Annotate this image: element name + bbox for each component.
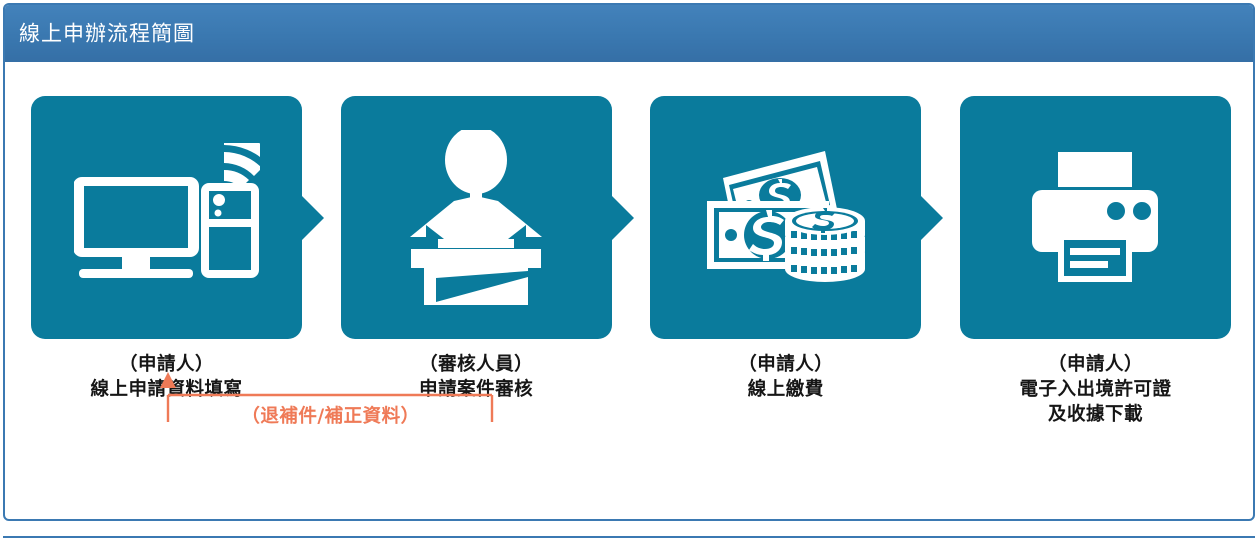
flow-step-4-role: （申請人） xyxy=(960,353,1231,378)
flow-body: （申請人） 線上申請資料填寫 xyxy=(5,62,1253,519)
flow-step-1-card[interactable] xyxy=(31,96,302,339)
flow-step-1: （申請人） 線上申請資料填寫 xyxy=(31,96,302,403)
flow-step-3-card[interactable] xyxy=(650,96,921,339)
flow-step-2-desc: 申請案件審核 xyxy=(341,378,612,403)
page-title: 線上申辦流程簡圖 xyxy=(19,23,195,44)
flow-step-1-desc: 線上申請資料填寫 xyxy=(31,378,302,403)
flow-steps: （申請人） 線上申請資料填寫 xyxy=(31,96,1231,346)
banknotes-coins-icon xyxy=(701,143,871,293)
flow-step-4: （申請人） 電子入出境許可證 及收據下載 xyxy=(960,96,1231,428)
flow-step-3-caption: （申請人） 線上繳費 xyxy=(650,353,921,403)
flow-step-2-role: （審核人員） xyxy=(341,353,612,378)
flow-step-2-caption: （審核人員） 申請案件審核 xyxy=(341,353,612,403)
desktop-computer-wifi-icon xyxy=(74,143,260,293)
flow-panel: 線上申辦流程簡圖 xyxy=(3,3,1255,521)
flow-step-3-role: （申請人） xyxy=(650,353,921,378)
flow-step-2-card[interactable] xyxy=(341,96,612,339)
correction-loop-label: （退補件/補正資料） xyxy=(168,402,493,428)
flow-step-4-caption: （申請人） 電子入出境許可證 及收據下載 xyxy=(960,353,1231,428)
flow-step-3: （申請人） 線上繳費 xyxy=(650,96,921,403)
flow-step-1-caption: （申請人） 線上申請資料填寫 xyxy=(31,353,302,403)
flow-diagram-screen: 線上申辦流程簡圖 xyxy=(0,0,1260,542)
flow-step-4-desc: 電子入出境許可證 及收據下載 xyxy=(960,378,1231,428)
panel-titlebar: 線上申辦流程簡圖 xyxy=(5,5,1253,62)
bottom-divider xyxy=(3,536,1255,538)
flow-step-4-card[interactable] xyxy=(960,96,1231,339)
flow-step-1-role: （申請人） xyxy=(31,353,302,378)
officer-at-podium-icon xyxy=(396,130,556,305)
flow-step-2: （審核人員） 申請案件審核 xyxy=(341,96,612,403)
flow-step-3-desc: 線上繳費 xyxy=(650,378,921,403)
printer-icon xyxy=(1020,148,1170,288)
